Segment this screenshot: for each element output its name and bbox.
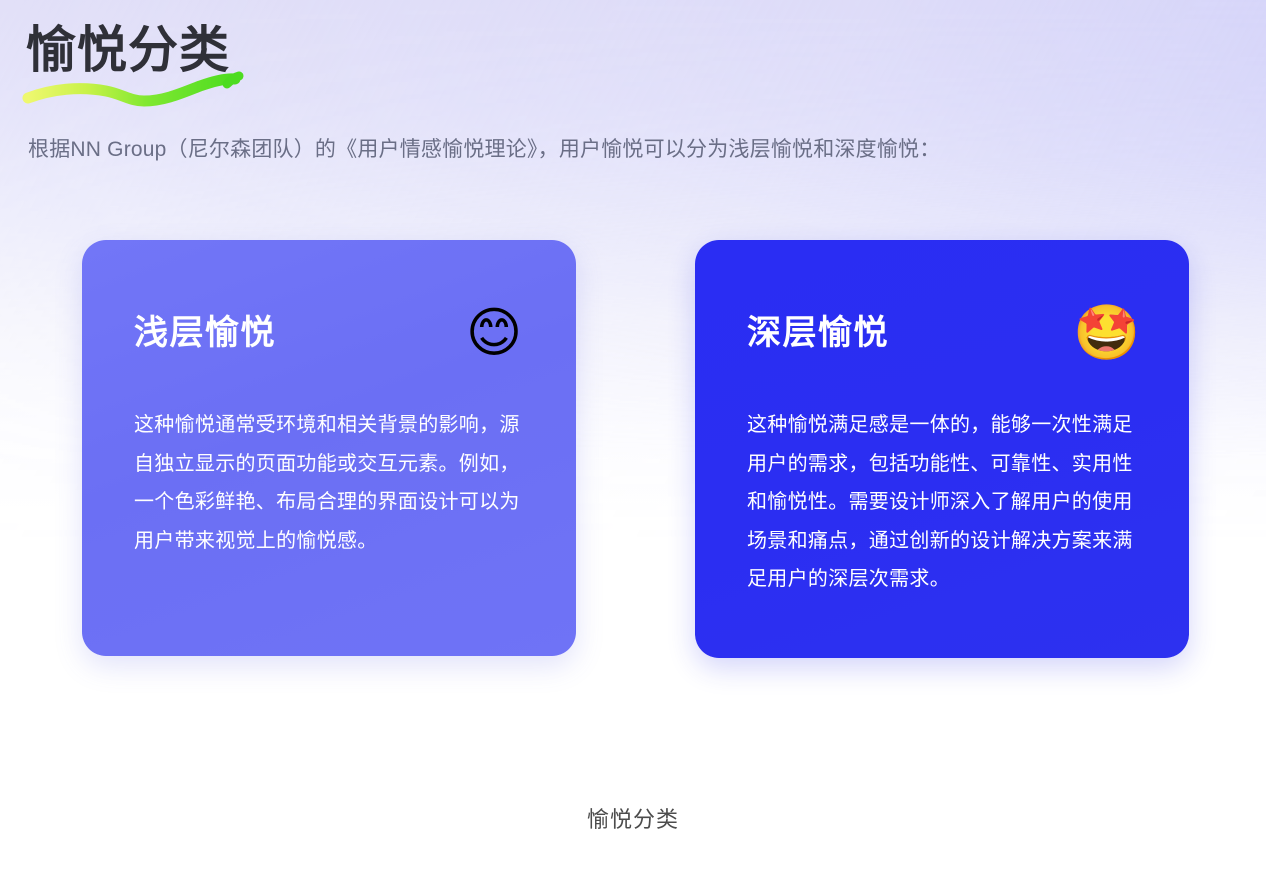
card-body-text: 这种愉悦满足感是一体的，能够一次性满足用户的需求，包括功能性、可靠性、实用性和愉… xyxy=(747,406,1151,599)
page-header: 愉悦分类 xyxy=(26,18,446,104)
card-deep-delight[interactable]: 深层愉悦 🤩 这种愉悦满足感是一体的，能够一次性满足用户的需求，包括功能性、可靠… xyxy=(695,240,1189,658)
page-caption: 愉悦分类 xyxy=(0,803,1266,837)
card-body-text: 这种愉悦通常受环境和相关背景的影响，源自独立显示的页面功能或交互元素。例如，一个… xyxy=(134,406,534,560)
intro-paragraph: 根据NN Group（尼尔森团队）的《用户情感愉悦理论》，用户愉悦可以分为浅层愉… xyxy=(28,131,1228,169)
card-shallow-delight[interactable]: 浅层愉悦 😊 这种愉悦通常受环境和相关背景的影响，源自独立显示的页面功能或交互元… xyxy=(82,240,576,656)
card-header: 浅层愉悦 😊 xyxy=(134,296,536,370)
smiling-face-with-smiling-eyes-emoji: 😊 xyxy=(462,301,526,365)
star-struck-emoji: 🤩 xyxy=(1075,301,1139,365)
card-title: 浅层愉悦 xyxy=(134,311,276,355)
cards-container: 浅层愉悦 😊 这种愉悦通常受环境和相关背景的影响，源自独立显示的页面功能或交互元… xyxy=(0,240,1266,670)
card-header: 深层愉悦 🤩 xyxy=(747,296,1149,370)
card-title: 深层愉悦 xyxy=(747,311,889,355)
page-title: 愉悦分类 xyxy=(26,18,230,82)
